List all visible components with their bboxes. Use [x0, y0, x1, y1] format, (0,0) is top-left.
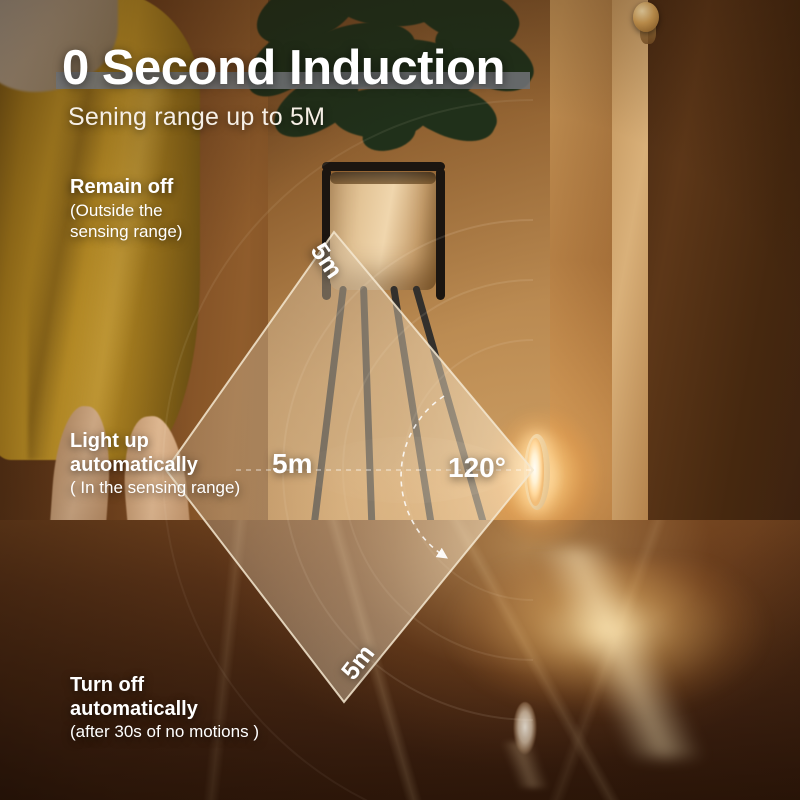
- callout-heading-line2: automatically: [70, 454, 240, 478]
- callout-subline1: (Outside the: [70, 200, 182, 221]
- range-label-center: 5m: [272, 448, 312, 480]
- callout-heading-line1: Light up: [70, 430, 240, 454]
- angle-label: 120°: [448, 452, 506, 484]
- page-subtitle: Sening range up to 5M: [68, 103, 325, 132]
- callout-heading-line2: automatically: [70, 698, 259, 722]
- callout-subline2: sensing range): [70, 221, 182, 242]
- callout-heading: Remain off: [70, 176, 182, 200]
- product-infographic: 0 Second Induction Sening range up to 5M…: [0, 0, 800, 800]
- page-title: 0 Second Induction: [62, 40, 505, 96]
- callout-light-up: Light up automatically ( In the sensing …: [70, 430, 240, 498]
- callout-heading-line1: Turn off: [70, 674, 259, 698]
- callout-turn-off: Turn off automatically (after 30s of no …: [70, 674, 259, 742]
- callout-subline1: (after 30s of no motions ): [70, 721, 259, 742]
- callout-remain-off: Remain off (Outside the sensing range): [70, 176, 182, 242]
- callout-subline1: ( In the sensing range): [70, 477, 240, 498]
